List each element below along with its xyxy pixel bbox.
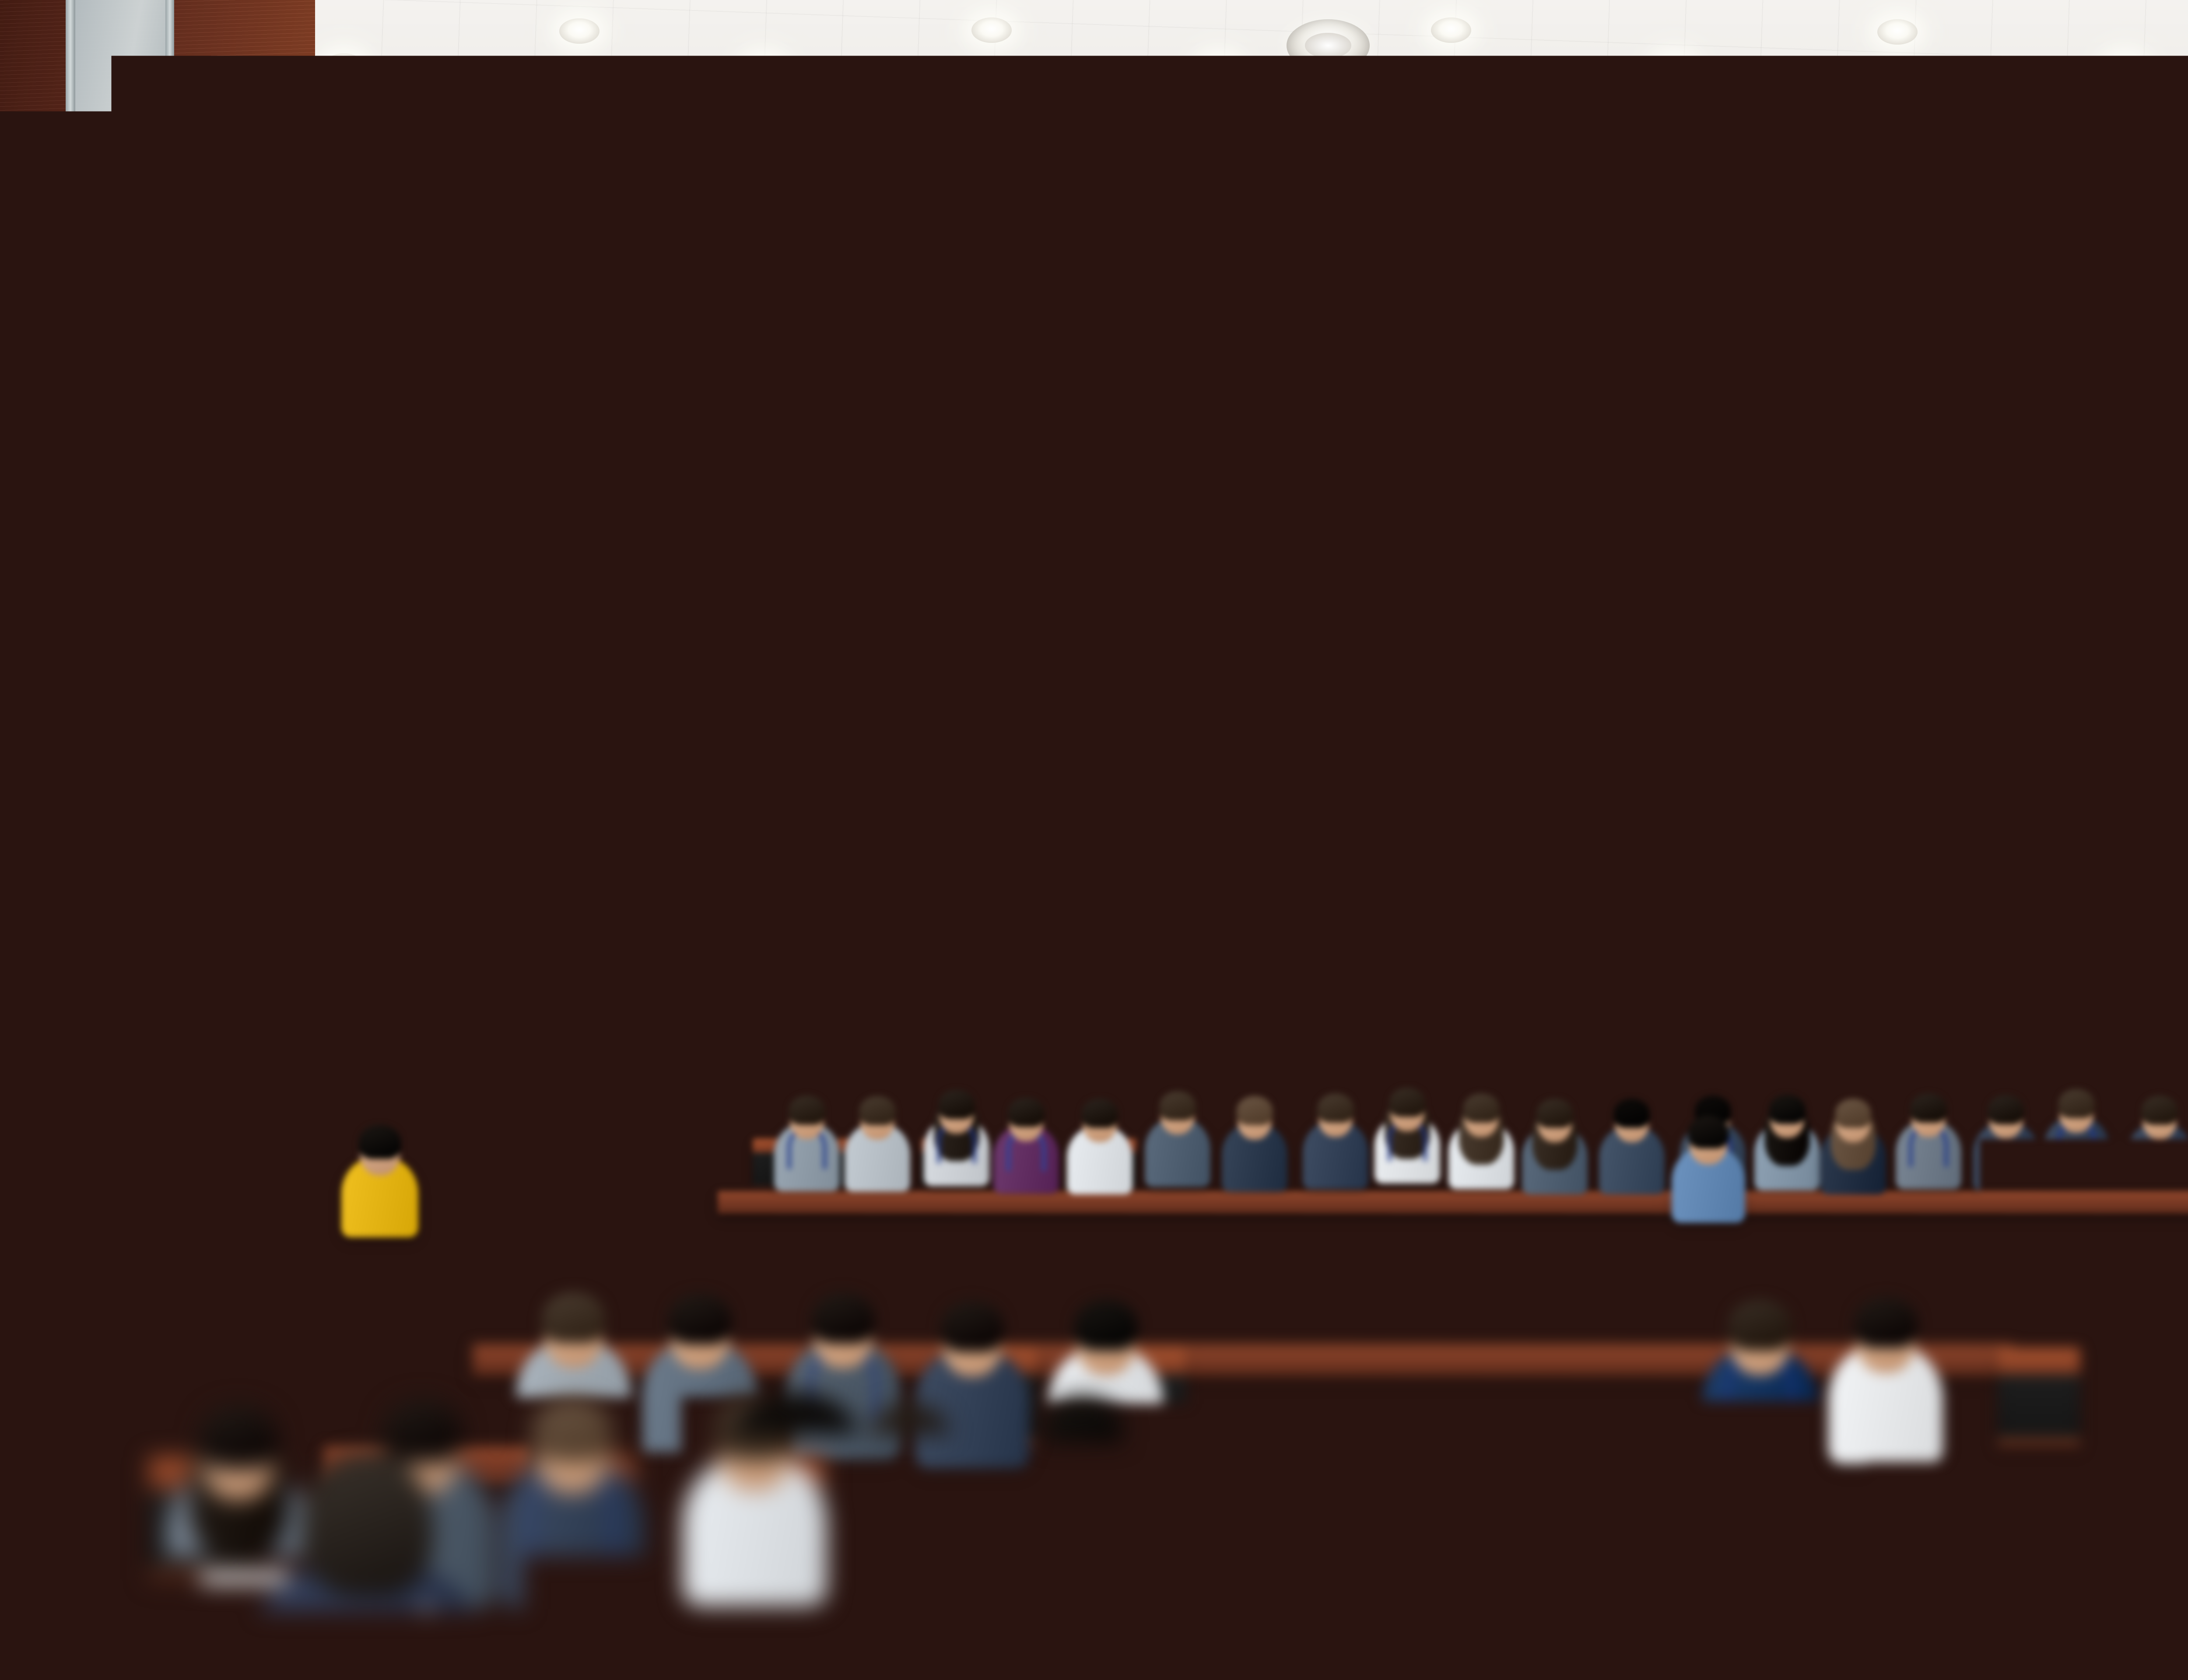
- audience-hair: [1303, 1214, 1355, 1256]
- audience-member: [1010, 1387, 1155, 1626]
- logo-institute-seal-1979: 1979: [1522, 453, 1574, 520]
- audience-hair: [359, 1125, 401, 1159]
- audience-hair: [977, 1196, 1032, 1241]
- audience-hair: [1131, 1051, 1161, 1075]
- audience-hair: [1963, 1058, 1993, 1082]
- audience-hair: [1356, 1028, 1383, 1049]
- audience-hair: [1093, 1212, 1145, 1254]
- audience-hair: [1108, 1160, 1153, 1196]
- audience-hair: [1769, 1095, 1806, 1124]
- slide-guidance-label: 指导单位: [853, 830, 1816, 856]
- audience-hair: [542, 1292, 605, 1343]
- audience-hair: [1073, 1027, 1099, 1048]
- audience-hair: [1043, 1396, 1122, 1460]
- audience-hair: [1841, 1058, 1871, 1082]
- ceiling-downlight: [1199, 57, 1239, 82]
- logo-sinoprobe-label: SinoProbe: [1169, 503, 1231, 516]
- audience-member: [500, 1389, 645, 1628]
- audience-hair: [1187, 1021, 1213, 1043]
- audience-hair: [1198, 1058, 1228, 1082]
- audience-hair: [1193, 1301, 1256, 1352]
- audience-hair: [1804, 1019, 1831, 1041]
- audience-hair: [1307, 1142, 1350, 1176]
- audience-hair: [939, 1090, 975, 1119]
- audience-hair: [1961, 1214, 2013, 1256]
- ceiling-downlight: [1877, 19, 1918, 45]
- audience-hair: [1389, 1400, 1469, 1464]
- audience-hair: [1318, 1093, 1354, 1123]
- audience-member: [1517, 1393, 1661, 1631]
- audience-hair: [686, 1146, 729, 1180]
- conference-hall-photo: HK HK 密集台阵与深部探测新技术研讨会: [0, 0, 2188, 1680]
- audience-hair: [645, 1211, 697, 1253]
- audience-hair: [1942, 1150, 1985, 1185]
- audience-hair: [1160, 1091, 1196, 1120]
- audience-hair: [859, 1151, 902, 1185]
- slide-organizer-label: 主办单位: [853, 705, 1816, 733]
- audience-hair: [1526, 1217, 1578, 1259]
- audience-hair: [1499, 1142, 1542, 1177]
- audience-hair: [1586, 1052, 1616, 1077]
- audience-hair: [1695, 1027, 1722, 1048]
- audience-hair: [859, 1096, 896, 1125]
- audience-hair: [771, 1208, 822, 1250]
- projection-screen: SinoProbe YES Network: [849, 396, 1820, 1002]
- audience-hair: [2036, 1145, 2079, 1179]
- audience-hair: [734, 1392, 859, 1493]
- ceiling-downlight: [324, 53, 364, 79]
- smoke-detector-icon: [503, 113, 523, 124]
- potted-plant-far-left: [18, 997, 201, 1181]
- audience-hair: [1132, 1019, 1158, 1040]
- audience-hair: [1455, 1057, 1485, 1081]
- ceiling-flood-light: [1287, 19, 1370, 72]
- audience-hair: [1342, 1293, 1405, 1344]
- logo-sinoprobe: SinoProbe: [1169, 456, 1231, 517]
- audience-hair: [1199, 1214, 1251, 1256]
- audience-hair: [533, 1398, 612, 1462]
- audience-hair: [1389, 1088, 1425, 1117]
- audience-hair: [1971, 1025, 1998, 1046]
- wall-speaker-left: HK: [325, 582, 389, 792]
- audience-hair: [1549, 1401, 1629, 1466]
- eyeglasses-icon: [579, 871, 613, 878]
- audience-hair: [874, 1056, 904, 1080]
- audience-member: [954, 1190, 1055, 1356]
- audience-hair: [1082, 1099, 1118, 1128]
- presenter-jeans: [552, 1022, 640, 1149]
- audience-hair: [1037, 1149, 1080, 1184]
- logo-yes-network: YES Network: [1250, 462, 1333, 512]
- audience-hair: [1071, 1055, 1101, 1080]
- logo-concentric-rings-globe: [1352, 451, 1418, 521]
- audience-member: [341, 1120, 418, 1247]
- audience-hair: [1301, 1019, 1328, 1040]
- audience-hair: [1752, 1026, 1778, 1047]
- audience-hair: [1988, 1095, 2024, 1124]
- audience-hair: [1914, 1028, 1940, 1049]
- audience-hair: [1647, 1058, 1677, 1083]
- audience-hair: [1237, 1096, 1273, 1125]
- audience-hair: [1841, 1214, 1893, 1256]
- presenter-belt: [551, 1013, 642, 1025]
- audience-hair: [789, 1095, 825, 1125]
- ceiling-downlight: [559, 18, 600, 44]
- audience-hair: [946, 1150, 989, 1184]
- audience-hair: [1418, 1027, 1445, 1048]
- potted-palm-right: [1995, 709, 2188, 1024]
- logo-yes-network-sublabel: Network: [1264, 497, 1318, 512]
- audience-hair: [1244, 1026, 1271, 1047]
- audience-hair: [1852, 1146, 1895, 1181]
- audience-hair: [2058, 1089, 2095, 1118]
- audience-hair: [1465, 1017, 1491, 1039]
- audience-member: [1702, 1389, 1847, 1628]
- audience-hair: [866, 1212, 918, 1254]
- podium[interactable]: [733, 931, 905, 1062]
- audience-hair: [1267, 1057, 1297, 1081]
- audience-hair: [1735, 1398, 1814, 1462]
- audience-hair: [1008, 1098, 1045, 1127]
- audience-hair: [1331, 1054, 1361, 1079]
- slide-title: 密集台阵与探测新技术研讨会: [853, 564, 1816, 645]
- ceiling-downlight: [1431, 17, 1471, 43]
- audience-hair: [1474, 1292, 1537, 1343]
- ceiling-flood-light: [565, 73, 648, 125]
- audience-hair: [1707, 1056, 1737, 1081]
- audience-hair: [1894, 1403, 1974, 1467]
- audience-hair: [1911, 1093, 1947, 1123]
- speaker-brand-label: HK: [350, 773, 365, 784]
- audience-hair: [1613, 1099, 1650, 1128]
- led-banner-text: 密集台阵与深部探测新技术研讨会: [863, 305, 1798, 386]
- audience-hair: [1737, 1218, 1788, 1260]
- audience-hair: [962, 1022, 989, 1043]
- audience-member: [1862, 1395, 2006, 1634]
- logo-seal-year: 1979: [1522, 503, 1574, 515]
- logo-china-geological-survey: [1025, 454, 1090, 519]
- presentation-slide: SinoProbe YES Network: [853, 400, 1816, 998]
- audience-member: [245, 1011, 303, 1106]
- wall-speaker-right: HK: [2170, 243, 2188, 467]
- audience-hair: [1025, 1024, 1052, 1046]
- audience-hair: [1597, 1293, 1660, 1344]
- ceiling-downlight: [971, 17, 1012, 43]
- audience-hair: [937, 1048, 968, 1073]
- audience-hair: [1578, 1149, 1620, 1184]
- audience-head: [302, 1452, 433, 1597]
- audience-hair: [1729, 1299, 1792, 1351]
- audience-hair: [1392, 1054, 1422, 1078]
- audience-hair: [2147, 1018, 2188, 1102]
- audience-member: [2039, 1388, 2183, 1627]
- ceiling-flood-light: [2096, 68, 2179, 121]
- audience-member: [1181, 1396, 1325, 1634]
- audience-hair: [1229, 1152, 1272, 1186]
- audience-hair: [812, 1292, 875, 1344]
- wall-seam: [499, 131, 501, 1116]
- window-mullion: [165, 0, 174, 1059]
- audience-hair: [1864, 1024, 1891, 1045]
- audience-hair: [1213, 1404, 1293, 1469]
- audience-hair: [1585, 1028, 1611, 1049]
- audience-hair: [668, 1293, 731, 1344]
- ceiling-downlight: [744, 57, 784, 82]
- audience-hair: [1771, 1057, 1802, 1082]
- wall-speaker-far-left: [18, 490, 162, 634]
- audience-hair: [1463, 1093, 1500, 1123]
- audience-hair: [1522, 1051, 1553, 1075]
- audience-hair: [1688, 1116, 1729, 1148]
- logo-mountain-m-seal: [1593, 453, 1645, 520]
- slide-guidance-units: 中国地质调查局 中国地质科学院: [853, 872, 1816, 901]
- audience-hair: [1006, 1049, 1036, 1074]
- logo-blue-globe: [1110, 466, 1150, 507]
- led-banner: 密集台阵与深部探测新技术研讨会: [860, 302, 1801, 389]
- audience-hair: [1416, 1218, 1467, 1260]
- audience-member: [1357, 1391, 1501, 1630]
- audience-hair: [2003, 1302, 2066, 1353]
- audience-member: [2105, 1006, 2188, 1317]
- audience-hair: [2071, 1397, 2151, 1461]
- audience-hair: [2034, 1052, 2065, 1076]
- audience-hair: [1633, 1021, 1659, 1042]
- slide-logo-row: SinoProbe YES Network: [853, 433, 1816, 540]
- slide-organizers: 中国地质科学院地球深部探测中心、中国大陆动力学专业委员会: [853, 750, 1816, 780]
- audience-hair: [1638, 1218, 1690, 1260]
- audience-hair: [1537, 1099, 1573, 1128]
- audience-hair: [2027, 1019, 2053, 1041]
- logo-compass-globe: [1437, 451, 1503, 521]
- audience-hair: [1835, 1099, 1871, 1128]
- audience-hair: [1528, 1024, 1554, 1045]
- audience-member-foreground: [245, 1426, 490, 1680]
- audience-hair: [555, 1217, 607, 1259]
- planter-pot: [70, 1151, 149, 1200]
- audience-hair: [258, 1014, 290, 1040]
- smoke-detector-icon: [2129, 99, 2149, 110]
- audience-hair: [1898, 1050, 1928, 1075]
- audience-hair: [777, 1148, 820, 1182]
- audience-member: [683, 1378, 910, 1680]
- podium-top: [726, 914, 910, 933]
- audience-hair: [1396, 1144, 1439, 1178]
- audience-hair: [1074, 1299, 1137, 1351]
- audience-hair: [1854, 1297, 1917, 1348]
- audience-hair: [1772, 1148, 1815, 1182]
- ceiling-downlight: [1654, 56, 1694, 81]
- audience-hair: [392, 1293, 455, 1344]
